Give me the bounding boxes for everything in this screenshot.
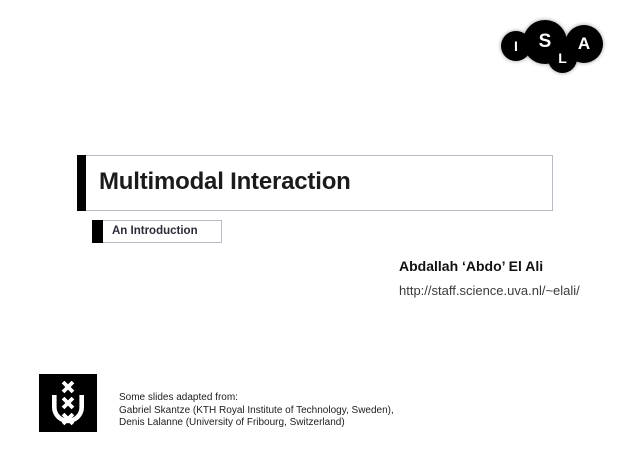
subtitle-accent-bar: [92, 220, 103, 243]
isla-logo-letter-a: A: [565, 25, 603, 63]
author-url: http://staff.science.uva.nl/~elali/: [399, 283, 580, 298]
page-title: Multimodal Interaction: [99, 168, 351, 196]
credits-line-2: Denis Lalanne (University of Fribourg, S…: [119, 417, 394, 430]
credits-heading: Some slides adapted from:: [119, 392, 394, 405]
title-accent-bar: [77, 155, 86, 211]
credits-line-1: Gabriel Skantze (KTH Royal Institute of …: [119, 405, 394, 418]
credits-block: Some slides adapted from: Gabriel Skantz…: [119, 392, 394, 430]
presentation-title-slide: I S L A Multimodal Interaction An Introd…: [0, 0, 640, 452]
isla-logo: I S L A: [495, 14, 607, 76]
author-name: Abdallah ‘Abdo’ El Ali: [399, 258, 543, 274]
university-of-amsterdam-logo: [39, 374, 97, 432]
page-subtitle: An Introduction: [112, 225, 198, 237]
